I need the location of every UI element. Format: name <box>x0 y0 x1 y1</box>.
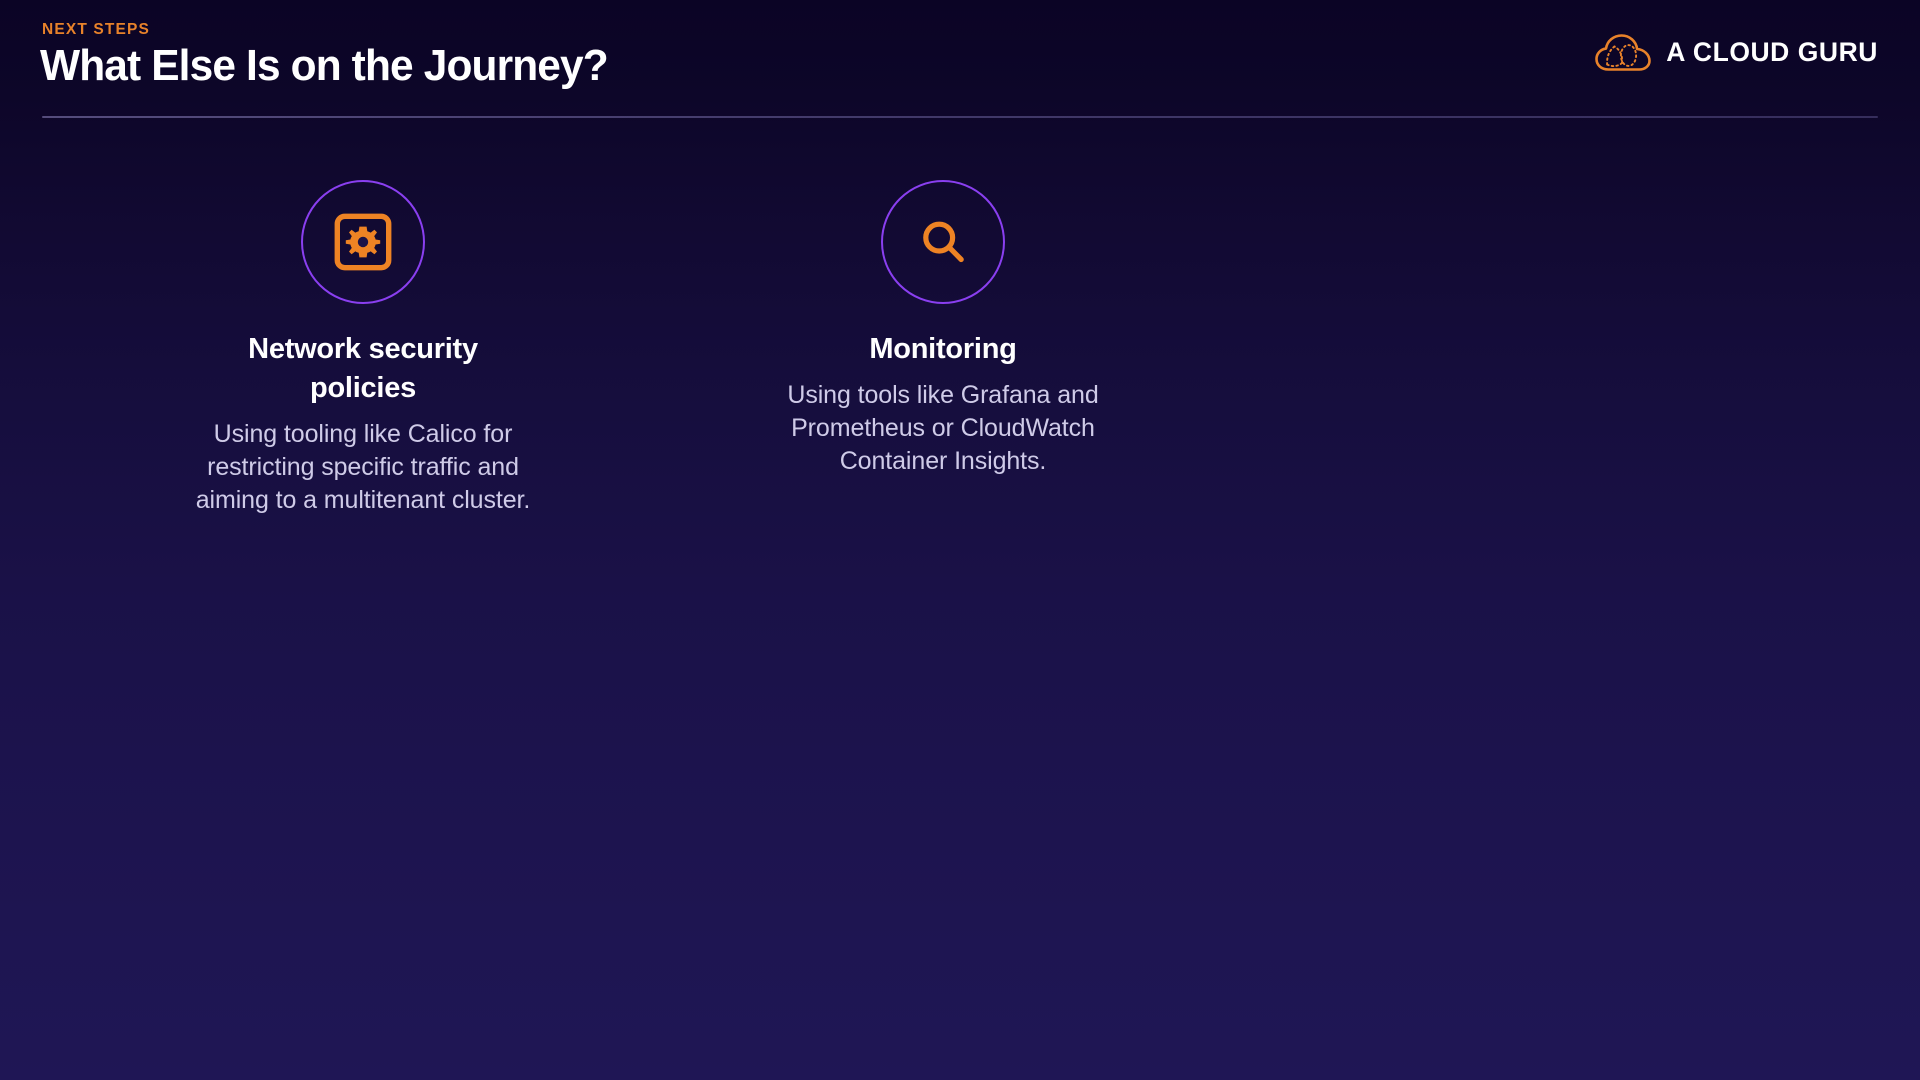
brand-name: A CLOUD GURU <box>1666 39 1878 66</box>
card-body: Using tooling like Calico for restrictin… <box>191 418 536 517</box>
card-grid: Network security policies Using tooling … <box>0 180 1920 517</box>
card-title: Network security policies <box>227 330 499 408</box>
magnifying-glass-icon <box>914 213 972 271</box>
card-title: Monitoring <box>869 330 1016 369</box>
brand-logo: A CLOUD GURU <box>1594 33 1878 72</box>
eyebrow-label: NEXT STEPS <box>42 22 150 38</box>
card-body: Using tools like Grafana and Prometheus … <box>763 379 1123 478</box>
slide-root: NEXT STEPS What Else Is on the Journey? … <box>0 0 1920 1080</box>
icon-ring <box>301 180 425 304</box>
page-title: What Else Is on the Journey? <box>40 40 608 92</box>
header-divider <box>42 116 1878 118</box>
icon-ring <box>881 180 1005 304</box>
card-monitoring: Monitoring Using tools like Grafana and … <box>738 180 1148 478</box>
card-network-security-policies: Network security policies Using tooling … <box>158 180 568 517</box>
gear-in-square-icon <box>334 213 392 271</box>
cloud-icon <box>1594 33 1652 72</box>
slide-header: NEXT STEPS What Else Is on the Journey? … <box>0 0 1920 118</box>
